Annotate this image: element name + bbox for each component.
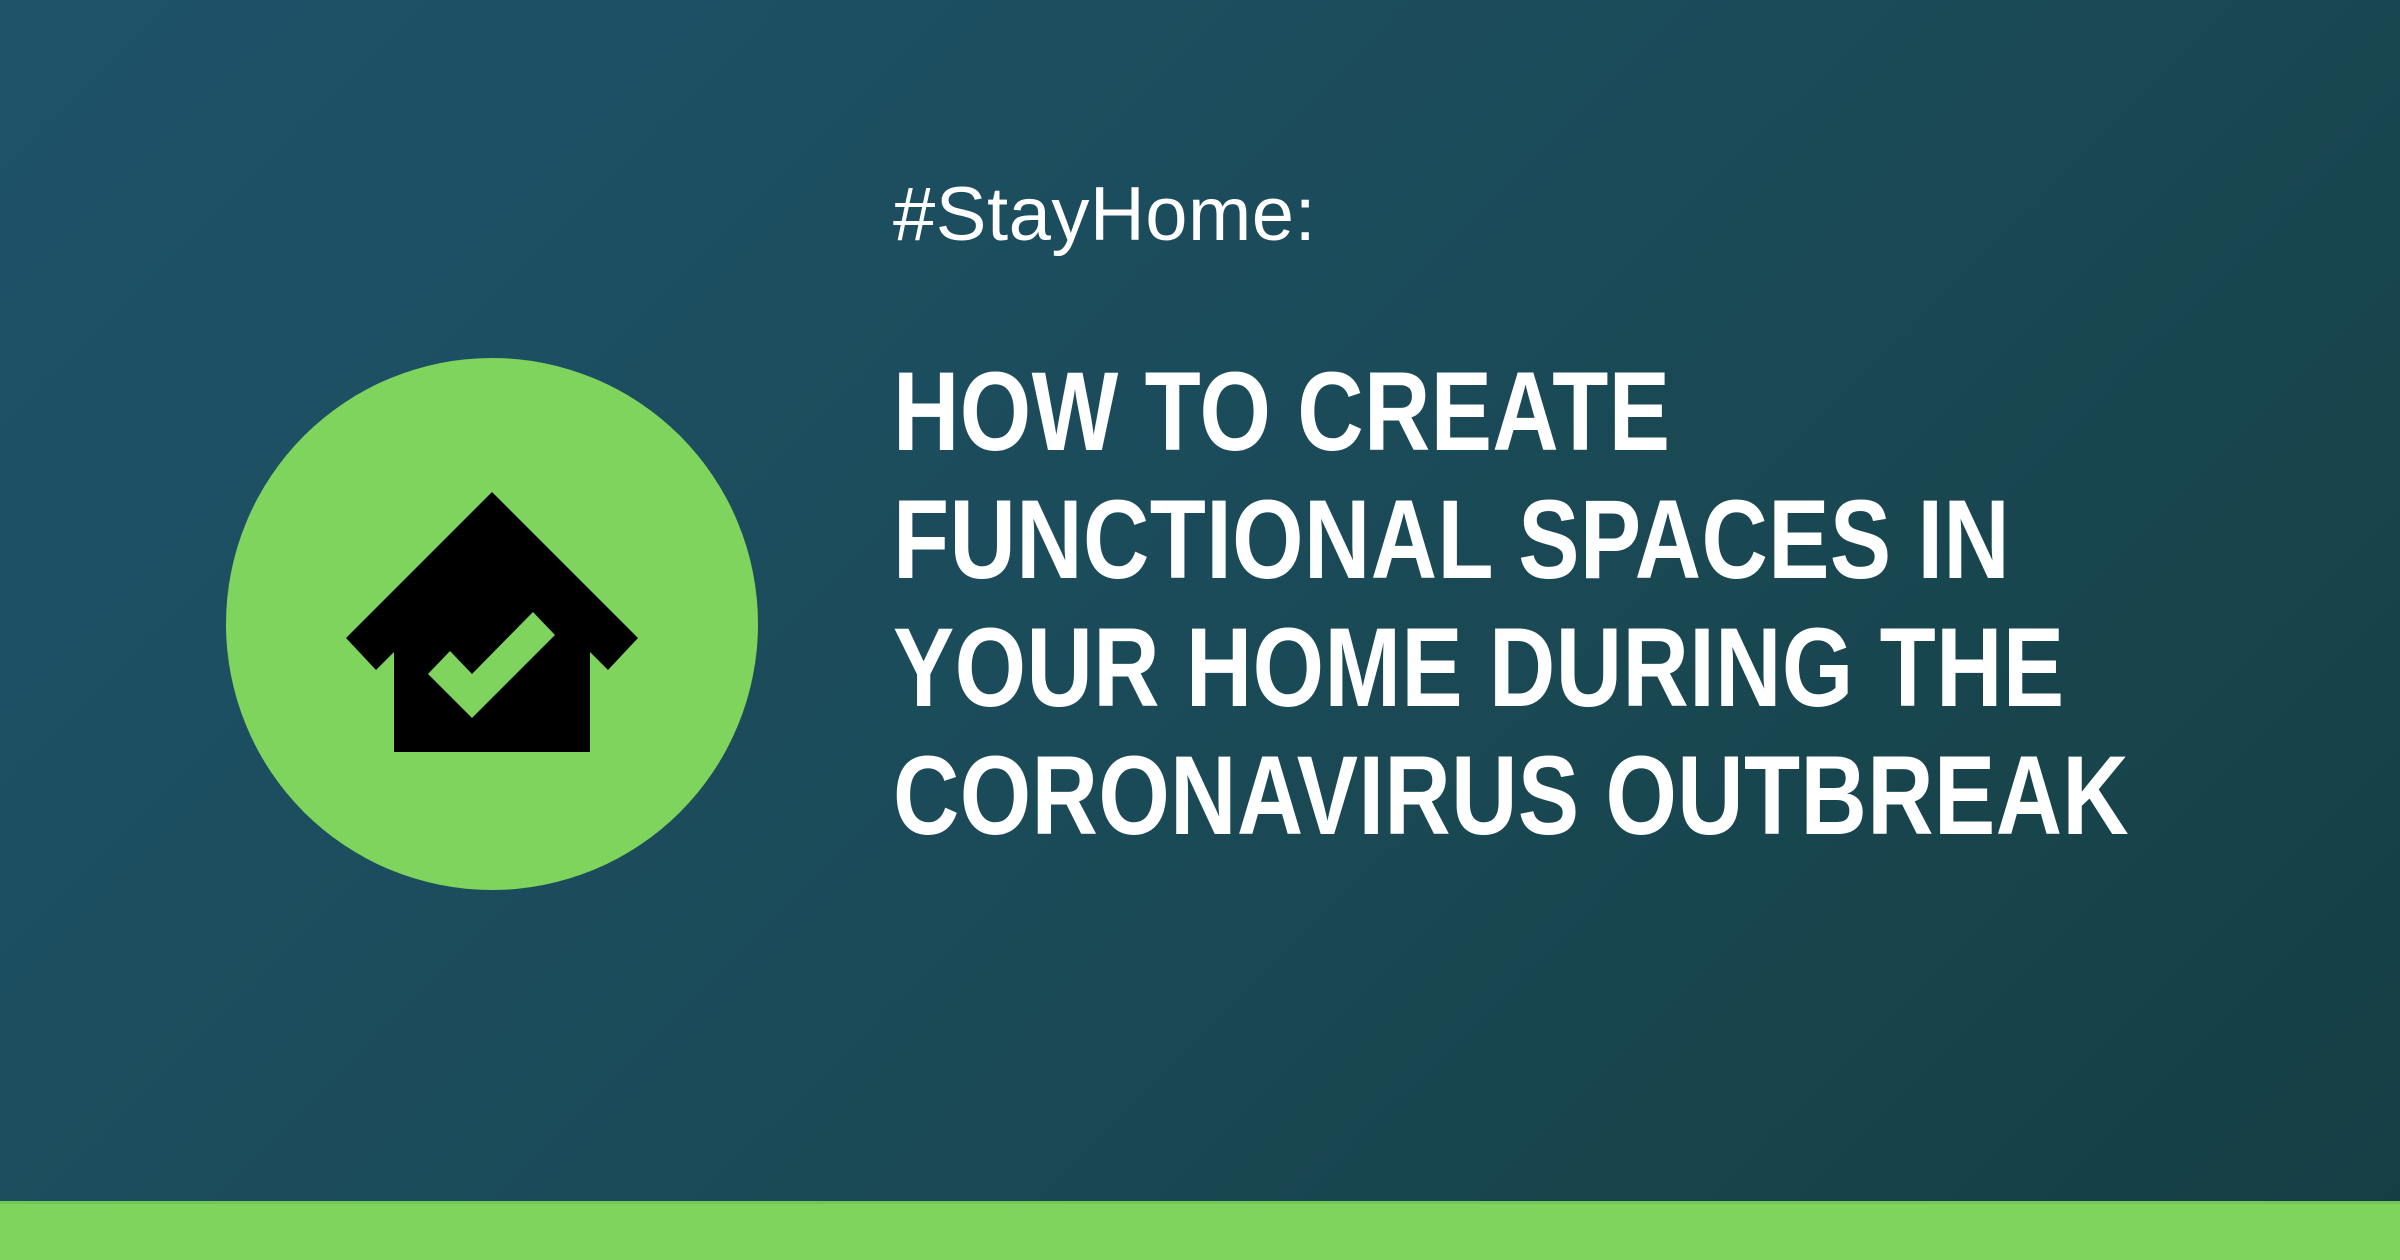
headline-line-1: HOW TO CREATE — [893, 348, 2057, 476]
house-check-icon — [342, 480, 642, 780]
headline-line-4: CORONAVIRUS OUTBREAK — [893, 732, 2057, 860]
house-check-badge — [226, 358, 758, 890]
promo-banner: #StayHome: HOW TO CREATE FUNCTIONAL SPAC… — [0, 0, 2400, 1260]
bottom-accent-bar — [0, 1204, 2400, 1260]
kicker-hashtag: #StayHome: — [893, 172, 1316, 258]
headline-line-3: YOUR HOME DURING THE — [893, 604, 2057, 732]
page-title: HOW TO CREATE FUNCTIONAL SPACES IN YOUR … — [893, 348, 2313, 860]
headline-line-2: FUNCTIONAL SPACES IN — [893, 476, 2057, 604]
text-content: #StayHome: HOW TO CREATE FUNCTIONAL SPAC… — [893, 0, 2313, 1260]
